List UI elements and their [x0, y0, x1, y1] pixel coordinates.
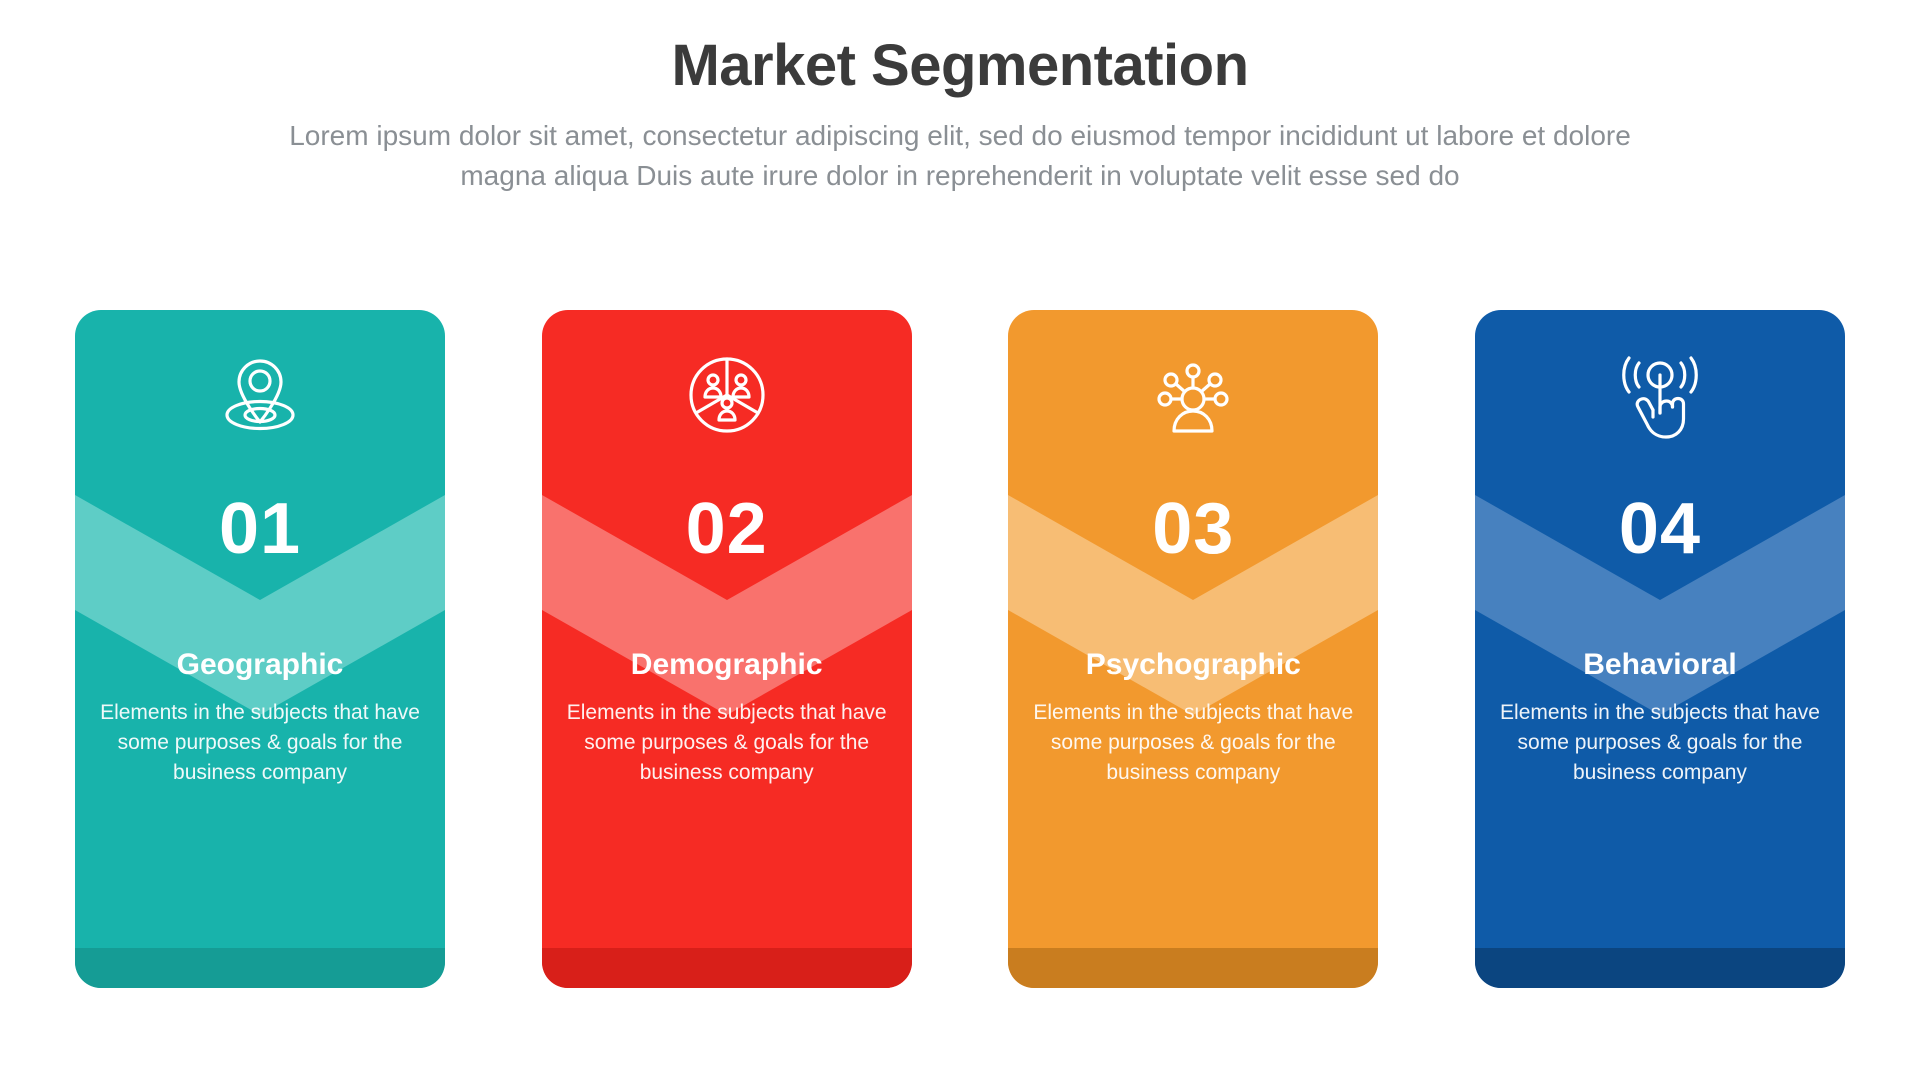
tap-hand-icon	[1610, 345, 1710, 445]
people-pie-icon	[677, 345, 777, 445]
map-pin-icon	[210, 345, 310, 445]
card-heading: Geographic	[177, 650, 344, 680]
card-number: 02	[686, 493, 768, 565]
page-subtitle: Lorem ipsum dolor sit amet, consectetur …	[245, 116, 1675, 196]
card-heading: Psychographic	[1086, 650, 1301, 680]
segment-card-demographic[interactable]: 02 Demographic Elements in the subjects …	[542, 310, 912, 988]
card-footer-strip	[75, 948, 445, 988]
card-number: 01	[219, 493, 301, 565]
segment-card-geographic[interactable]: 01 Geographic Elements in the subjects t…	[75, 310, 445, 988]
card-footer-strip	[1008, 948, 1378, 988]
card-number: 03	[1152, 493, 1234, 565]
header: Market Segmentation Lorem ipsum dolor si…	[0, 0, 1920, 195]
card-description: Elements in the subjects that have some …	[562, 698, 892, 787]
segment-card-psychographic[interactable]: 03 Psychographic Elements in the subject…	[1008, 310, 1378, 988]
card-description: Elements in the subjects that have some …	[1028, 698, 1358, 787]
page-title: Market Segmentation	[0, 34, 1920, 98]
card-description: Elements in the subjects that have some …	[95, 698, 425, 787]
card-heading: Behavioral	[1583, 650, 1736, 680]
infographic-page: Market Segmentation Lorem ipsum dolor si…	[0, 0, 1920, 1080]
card-heading: Demographic	[631, 650, 823, 680]
segment-card-behavioral[interactable]: 04 Behavioral Elements in the subjects t…	[1475, 310, 1845, 988]
segment-cards-row: 01 Geographic Elements in the subjects t…	[75, 310, 1845, 988]
card-footer-strip	[542, 948, 912, 988]
card-number: 04	[1619, 493, 1701, 565]
card-footer-strip	[1475, 948, 1845, 988]
card-description: Elements in the subjects that have some …	[1495, 698, 1825, 787]
person-network-icon	[1143, 345, 1243, 445]
